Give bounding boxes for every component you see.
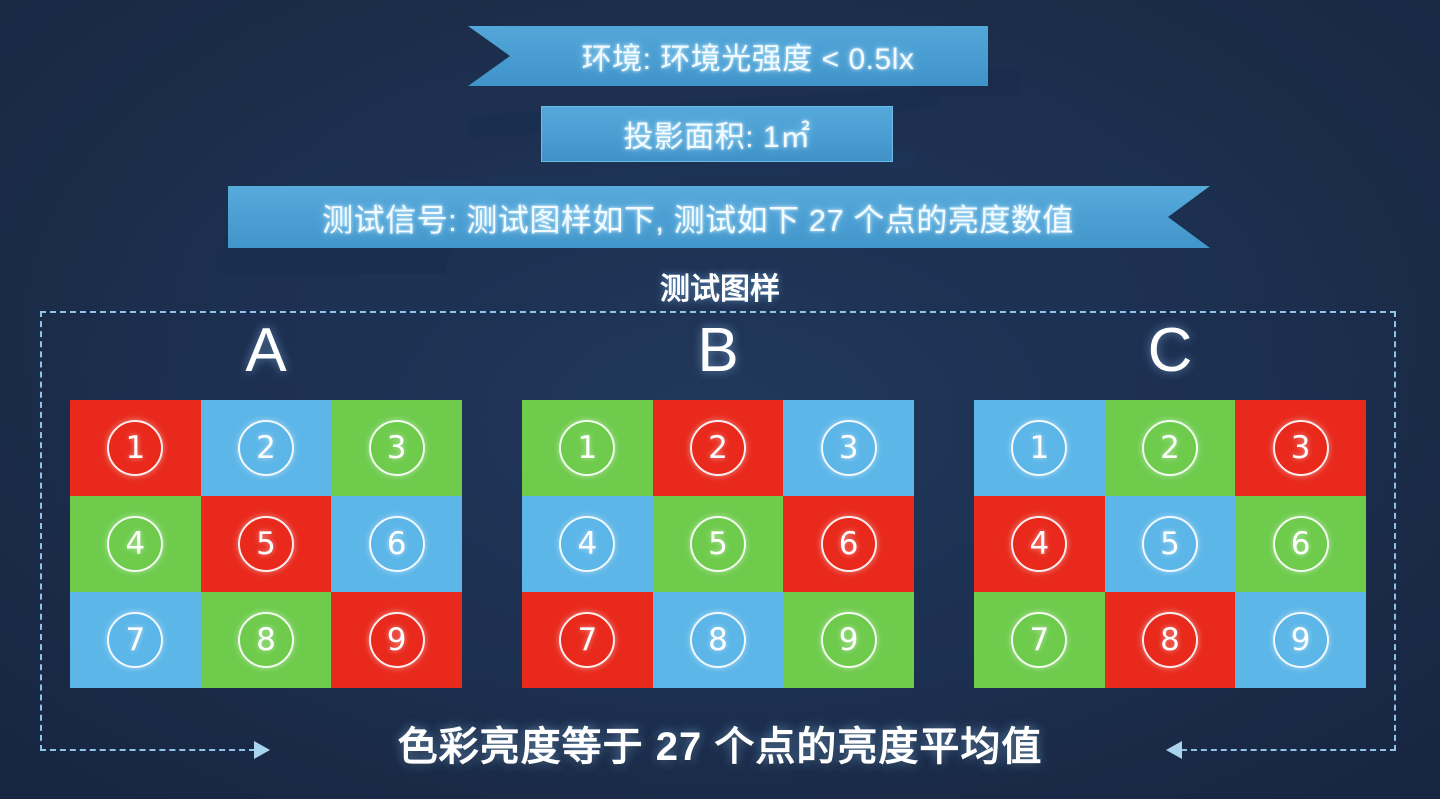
point-badge: 3 (369, 420, 425, 476)
pattern-cell: 5 (201, 496, 332, 592)
point-badge: 3 (1273, 420, 1329, 476)
point-badge: 6 (1273, 516, 1329, 572)
pattern-cell: 8 (653, 592, 784, 688)
pattern-cell: 6 (331, 496, 462, 592)
section-title: 测试图样 (0, 264, 1440, 308)
point-badge: 7 (1011, 612, 1067, 668)
point-badge: 8 (690, 612, 746, 668)
pattern-group-b: B 1 2 3 4 5 6 7 8 9 (518, 320, 918, 688)
pattern-grid-a: 1 2 3 4 5 6 7 8 9 (70, 400, 462, 688)
point-badge: 8 (238, 612, 294, 668)
point-badge: 5 (690, 516, 746, 572)
pattern-cell: 2 (1105, 400, 1236, 496)
pattern-cell: 3 (331, 400, 462, 496)
point-badge: 9 (369, 612, 425, 668)
point-badge: 5 (238, 516, 294, 572)
point-badge: 2 (1142, 420, 1198, 476)
point-badge: 2 (690, 420, 746, 476)
point-badge: 1 (107, 420, 163, 476)
pattern-cell: 4 (70, 496, 201, 592)
banner-projection-area-label: 投影面积: 1㎡ (623, 112, 810, 156)
pattern-cell: 1 (70, 400, 201, 496)
point-badge: 4 (559, 516, 615, 572)
point-badge: 2 (238, 420, 294, 476)
point-badge: 5 (1142, 516, 1198, 572)
pattern-cell: 6 (783, 496, 914, 592)
pattern-group-c: C 1 2 3 4 5 6 7 8 9 (970, 320, 1370, 688)
pattern-cell: 4 (974, 496, 1105, 592)
pattern-cell: 3 (783, 400, 914, 496)
pattern-cell: 7 (974, 592, 1105, 688)
point-badge: 1 (559, 420, 615, 476)
pattern-group-b-label: B (697, 320, 738, 382)
point-badge: 4 (107, 516, 163, 572)
pattern-cell: 9 (783, 592, 914, 688)
pattern-cell: 7 (70, 592, 201, 688)
pattern-cell: 1 (974, 400, 1105, 496)
banner-environment-label: 环境: 环境光强度 < 0.5lx (542, 34, 915, 78)
banner-test-signal-label: 测试信号: 测试图样如下, 测试如下 27 个点的亮度数值 (322, 195, 1116, 240)
point-badge: 7 (107, 612, 163, 668)
pattern-cell: 5 (653, 496, 784, 592)
pattern-cell: 8 (201, 592, 332, 688)
pattern-group-c-label: C (1148, 320, 1193, 382)
pattern-cell: 2 (653, 400, 784, 496)
pattern-grid-c: 1 2 3 4 5 6 7 8 9 (974, 400, 1366, 688)
pattern-cell: 5 (1105, 496, 1236, 592)
pattern-cell: 9 (1235, 592, 1366, 688)
summary-caption: 色彩亮度等于 27 个点的亮度平均值 (0, 714, 1440, 772)
point-badge: 7 (559, 612, 615, 668)
point-badge: 6 (369, 516, 425, 572)
banner-test-signal: 测试信号: 测试图样如下, 测试如下 27 个点的亮度数值 (228, 186, 1210, 248)
banner-environment: 环境: 环境光强度 < 0.5lx (468, 26, 988, 86)
point-badge: 8 (1142, 612, 1198, 668)
point-badge: 3 (821, 420, 877, 476)
pattern-cell: 6 (1235, 496, 1366, 592)
pattern-cell: 3 (1235, 400, 1366, 496)
pattern-grid-b: 1 2 3 4 5 6 7 8 9 (522, 400, 914, 688)
pattern-cell: 4 (522, 496, 653, 592)
slide-canvas: 环境: 环境光强度 < 0.5lx 投影面积: 1㎡ 测试信号: 测试图样如下,… (0, 0, 1440, 799)
pattern-cell: 2 (201, 400, 332, 496)
banner-projection-area: 投影面积: 1㎡ (541, 106, 893, 162)
frame-top-edge (40, 311, 1396, 313)
test-pattern-groups: A 1 2 3 4 5 6 7 8 9 B 1 2 3 4 5 6 (40, 320, 1396, 720)
pattern-group-a: A 1 2 3 4 5 6 7 8 9 (66, 320, 466, 688)
point-badge: 4 (1011, 516, 1067, 572)
pattern-cell: 8 (1105, 592, 1236, 688)
point-badge: 6 (821, 516, 877, 572)
point-badge: 9 (1273, 612, 1329, 668)
pattern-cell: 9 (331, 592, 462, 688)
point-badge: 1 (1011, 420, 1067, 476)
pattern-cell: 7 (522, 592, 653, 688)
pattern-cell: 1 (522, 400, 653, 496)
pattern-group-a-label: A (245, 320, 286, 382)
point-badge: 9 (821, 612, 877, 668)
